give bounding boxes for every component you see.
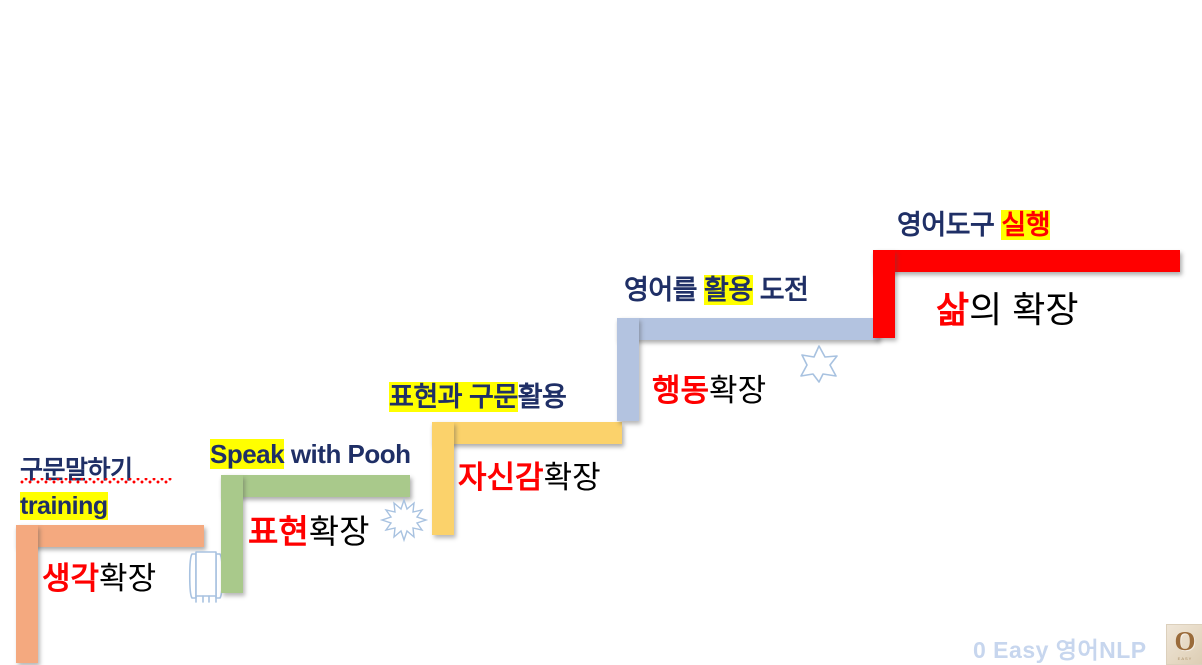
step-3-label: 자신감확장 — [458, 452, 601, 497]
step-4-caption-highlight: 활용 — [704, 275, 753, 305]
step-5-caption: 영어도구 실행 — [897, 203, 1050, 242]
step-5-tread — [873, 250, 1180, 272]
step-1-tread — [16, 525, 204, 547]
step-1-label-rest: 확장 — [99, 561, 156, 596]
step-2-label: 표현확장 — [248, 505, 369, 553]
step-4-label-rest: 확장 — [709, 373, 766, 408]
brand-text-label: 0 Easy 영어NLP — [973, 637, 1147, 663]
step-1-spellcheck-underline — [20, 478, 172, 484]
brand-logo: O EASY — [1166, 624, 1202, 665]
step-2-riser — [221, 475, 243, 593]
step-5-caption-highlight: 실행 — [1001, 210, 1050, 240]
step-3-caption: 표현과 구문활용 — [389, 375, 566, 414]
step-3-label-rest: 확장 — [544, 460, 601, 495]
brand-text: 0 Easy 영어NLP — [973, 631, 1147, 665]
step-1-label: 생각확장 — [42, 553, 156, 598]
step-5-label-rest: 의 확장 — [969, 289, 1078, 330]
step-1-label-emphasis: 생각 — [42, 561, 99, 596]
step-2-label-rest: 확장 — [309, 513, 370, 550]
step-5-riser — [873, 250, 895, 338]
step-2-label-emphasis: 표현 — [248, 513, 309, 550]
step-1-caption-line2: training — [20, 492, 108, 521]
step-2-caption-plain: with Pooh — [284, 439, 410, 469]
step-3-tread — [432, 422, 622, 444]
step-4-caption: 영어를 활용 도전 — [624, 268, 808, 307]
step-4-riser — [617, 318, 639, 421]
starburst-icon — [382, 498, 426, 542]
step-1-riser — [16, 525, 38, 663]
step-4-tread — [617, 318, 879, 340]
step-2-caption-highlight: Speak — [210, 439, 284, 469]
step-4-caption-pre: 영어를 — [624, 275, 704, 305]
step-3-riser — [432, 422, 454, 535]
step-5-caption-pre: 영어도구 — [897, 210, 1001, 240]
step-3-caption-plain: 활용 — [518, 382, 567, 412]
step-4-label-emphasis: 행동 — [652, 373, 709, 408]
step-3-label-emphasis: 자신감 — [458, 460, 544, 495]
step-1-caption-line2-text: training — [20, 492, 108, 520]
six-point-star-icon — [800, 345, 838, 383]
step-2-caption: Speak with Pooh — [210, 439, 411, 470]
step-5-label-emphasis: 삶 — [936, 289, 969, 330]
brand-logo-subtext: EASY — [1178, 656, 1193, 661]
step-4-label: 행동확장 — [652, 365, 766, 410]
staircase-diagram-canvas: 구문말하기 training 생각확장 Speak with Pooh 표현확장 — [0, 0, 1202, 663]
step-3-caption-highlight: 표현과 구문 — [389, 382, 518, 412]
step-4-caption-post: 도전 — [753, 275, 809, 305]
brand-logo-o-icon: O — [1174, 628, 1195, 655]
step-2-tread — [221, 475, 410, 497]
step-5-label: 삶의 확장 — [936, 281, 1079, 333]
